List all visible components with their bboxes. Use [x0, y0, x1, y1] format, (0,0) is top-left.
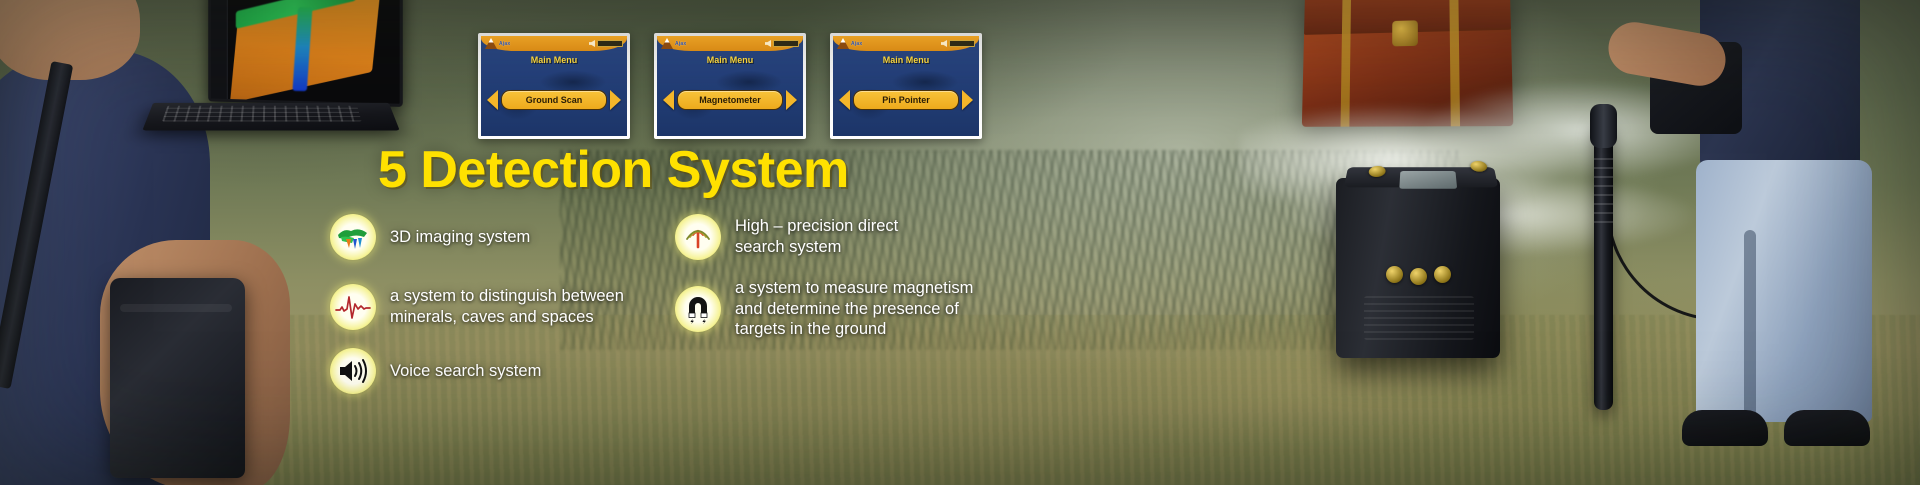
brand-badge: Ajax: [661, 38, 686, 49]
speaker-icon: [765, 40, 771, 47]
chest-lock: [1392, 20, 1418, 46]
detector-main-unit: [1336, 178, 1500, 358]
feature-item-magnetism: a system to measure magnetism and determ…: [675, 278, 1035, 340]
mountain-logo-icon: [661, 38, 673, 49]
laptop-keyboard-base: [142, 103, 399, 131]
detector-top-panel: [1344, 167, 1498, 187]
detector-vent: [1364, 296, 1474, 340]
selected-mode-button[interactable]: Magnetometer: [677, 90, 783, 110]
feature-label-line: and determine the presence of: [735, 300, 959, 318]
detector-knob: [1368, 166, 1386, 177]
device-menu-title: Main Menu: [657, 55, 803, 65]
3d-terrain-scan-icon: [330, 214, 376, 260]
next-mode-arrow-icon[interactable]: [962, 90, 973, 110]
device-status-bar: Ajax: [657, 36, 803, 51]
brand-label: Ajax: [499, 41, 510, 47]
probe-rod: [1594, 120, 1613, 410]
feature-label: Voice search system: [390, 361, 541, 382]
battery-icon: [949, 40, 975, 47]
laptop-screen: [208, 0, 403, 107]
device-status-bar: Ajax: [833, 36, 979, 51]
prev-mode-arrow-icon[interactable]: [487, 90, 498, 110]
feature-label-line: targets in the ground: [735, 320, 886, 338]
feature-label-line: High – precision direct: [735, 217, 898, 235]
right-operator-shoe: [1682, 410, 1768, 446]
feature-label-line: minerals, caves and spaces: [390, 308, 594, 326]
jeans-inseam: [1744, 230, 1756, 420]
battery-icon: [773, 40, 799, 47]
prev-mode-arrow-icon[interactable]: [663, 90, 674, 110]
device-panel-magnetometer[interactable]: Ajax Main Menu Magnetometer: [654, 33, 806, 139]
device-panel-pin-pointer[interactable]: Ajax Main Menu Pin Pointer: [830, 33, 982, 139]
device-panel-ground-scan[interactable]: Ajax Main Menu Ground Scan: [478, 33, 630, 139]
feature-label: a system to measure magnetism and determ…: [735, 278, 973, 340]
feature-label-line: a system to measure magnetism: [735, 279, 973, 297]
right-operator: [1660, 0, 1920, 485]
speaker-icon: [589, 40, 595, 47]
horseshoe-magnet-icon: [675, 286, 721, 332]
promo-banner: Ajax Main Menu Ground Scan: [0, 0, 1920, 485]
brand-label: Ajax: [675, 41, 686, 47]
feature-item-mineral-discrimination: a system to distinguish between minerals…: [330, 284, 670, 330]
feature-item-direct-search: High – precision direct search system: [675, 214, 1035, 260]
waveform-pulse-icon: [330, 284, 376, 330]
laptop: [148, 0, 398, 154]
speaker-sound-icon: [330, 348, 376, 394]
feature-item-voice-search: Voice search system: [330, 348, 670, 394]
selected-mode-button[interactable]: Ground Scan: [501, 90, 607, 110]
device-status-bar: Ajax: [481, 36, 627, 51]
treasure-chest: [1302, 0, 1514, 127]
radar-signal-icon: [675, 214, 721, 260]
detector-knob: [1386, 266, 1403, 283]
speaker-icon: [941, 40, 947, 47]
device-menu-title: Main Menu: [481, 55, 627, 65]
device-menu-title: Main Menu: [833, 55, 979, 65]
right-operator-shoe: [1784, 410, 1870, 446]
right-operator-jeans: [1696, 160, 1872, 422]
software-sidebar: [211, 0, 228, 99]
keyboard-keys: [162, 106, 361, 122]
brand-label: Ajax: [851, 41, 862, 47]
feature-item-3d-imaging: 3D imaging system: [330, 214, 670, 260]
detector-display: [1399, 171, 1457, 189]
next-mode-arrow-icon[interactable]: [786, 90, 797, 110]
next-mode-arrow-icon[interactable]: [610, 90, 621, 110]
feature-column-left: 3D imaging system a system to distinguis…: [330, 214, 670, 418]
feature-column-right: High – precision direct search system a …: [675, 214, 1035, 358]
mountain-logo-icon: [837, 38, 849, 49]
brand-badge: Ajax: [485, 38, 510, 49]
detector-knob: [1470, 161, 1488, 172]
probe-grip-rings: [1594, 158, 1613, 228]
prev-mode-arrow-icon[interactable]: [839, 90, 850, 110]
chest-band: [1449, 0, 1460, 126]
chest-band: [1341, 0, 1352, 127]
detector-knob: [1434, 266, 1451, 283]
feature-label: 3D imaging system: [390, 227, 530, 248]
mountain-logo-icon: [485, 38, 497, 49]
battery-icon: [597, 40, 623, 47]
page-title: 5 Detection System: [378, 140, 849, 200]
device-menu-panels: Ajax Main Menu Ground Scan: [478, 33, 982, 139]
equipment-bag: [110, 278, 245, 478]
feature-label-line: a system to distinguish between: [390, 287, 624, 305]
feature-label: a system to distinguish between minerals…: [390, 286, 624, 327]
feature-label-line: search system: [735, 238, 841, 256]
detector-knob: [1410, 268, 1427, 285]
brand-badge: Ajax: [837, 38, 862, 49]
selected-mode-button[interactable]: Pin Pointer: [853, 90, 959, 110]
feature-label: High – precision direct search system: [735, 216, 898, 257]
